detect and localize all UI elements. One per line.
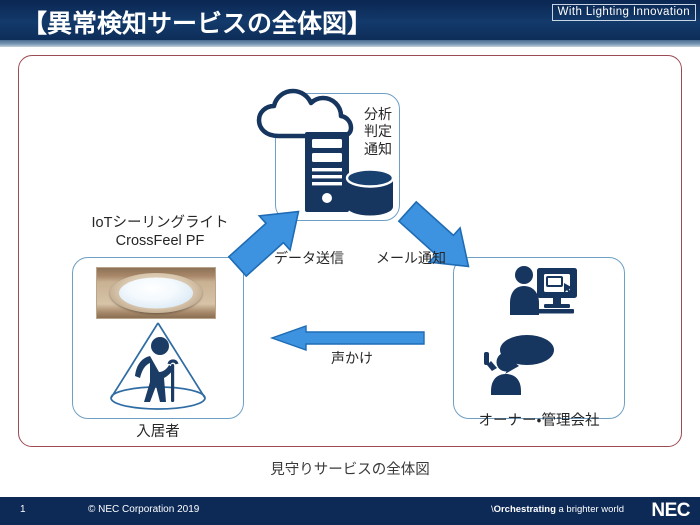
elderly-person-icon [135,337,177,402]
ceiling-light-photo [96,267,216,319]
label-owner: オーナー・管理会社 [463,413,615,431]
person-at-computer-icon [508,265,580,326]
slogan-rest: a brighter world [556,504,624,515]
label-mail-notify: メール通知 [368,250,454,267]
light-cone-icon [106,320,210,417]
tagline-badge: With Lighting Innovation [552,4,696,21]
slide-footer: 1 © NEC Corporation 2019 \Orchestrating … [0,497,700,525]
header-divider [0,40,700,47]
label-voice-call: 声かけ [312,350,392,367]
nec-logo: NEC [651,500,690,522]
arrow-data-send [223,196,313,287]
page-title: 【異常検知サービスの全体図】 [22,4,372,40]
slogan-bold: Orchestrating [494,504,556,515]
light-dome [119,278,193,309]
arrow-mail-notify [393,196,483,287]
slide-header: 【異常検知サービスの全体図】 With Lighting Innovation [0,0,700,40]
diagram-caption: 見守りサービスの全体図 [0,458,700,479]
brand-slogan: \Orchestrating a brighter world [491,504,624,515]
label-analysis: 分析 判定 通知 [364,106,420,158]
page-number: 1 [20,504,26,515]
person-on-phone-icon [483,333,559,402]
label-resident: 入居者 [98,424,218,442]
database-icon [347,170,393,216]
copyright-text: © NEC Corporation 2019 [88,504,199,515]
label-data-send: データ送信 [266,250,352,267]
